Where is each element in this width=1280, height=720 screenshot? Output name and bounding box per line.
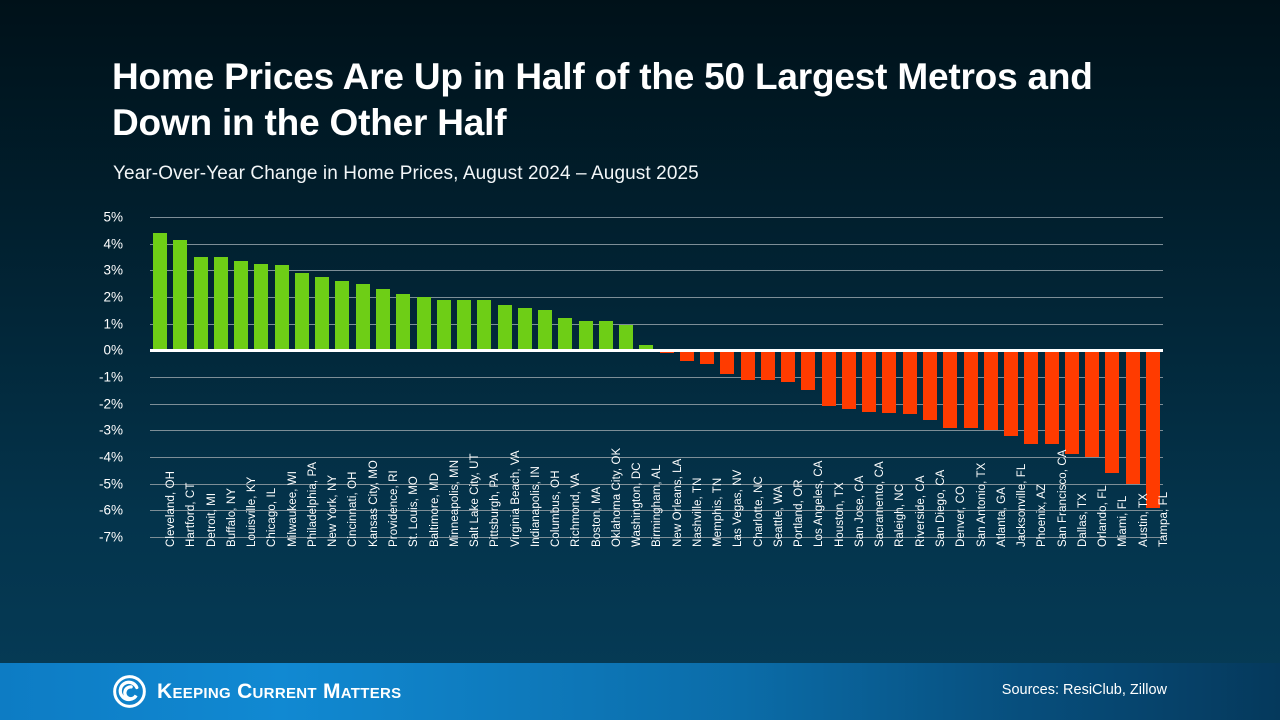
bar[interactable] <box>781 350 795 382</box>
bar[interactable] <box>1024 350 1038 443</box>
y-axis-tick-label: 3% <box>0 263 123 278</box>
sources-label: Sources: ResiClub, Zillow <box>1002 682 1167 698</box>
bar[interactable] <box>437 300 451 351</box>
bar[interactable] <box>275 265 289 350</box>
x-axis-tick-label: Birmingham, AL <box>651 464 663 547</box>
x-axis-tick-label: Indianapolis, IN <box>530 466 542 547</box>
x-axis-tick-label: Kansas City, MO <box>368 460 380 547</box>
x-axis-tick-label: Providence, RI <box>388 470 400 547</box>
y-axis-tick-label: 5% <box>0 210 123 225</box>
x-axis-tick-label: Louisville, KY <box>246 477 258 547</box>
x-axis-tick-label: Atlanta, GA <box>996 487 1008 547</box>
y-axis-tick-label: 4% <box>0 236 123 251</box>
x-axis-tick-label: San Diego, CA <box>935 470 947 547</box>
x-axis-tick-label: Philadelphia, PA <box>307 462 319 547</box>
x-axis-tick-label: Portland, OR <box>793 479 805 547</box>
bar[interactable] <box>984 350 998 430</box>
x-axis-tick-label: Minneapolis, MN <box>449 460 461 547</box>
bar[interactable] <box>498 305 512 350</box>
bar[interactable] <box>335 281 349 350</box>
bar[interactable] <box>923 350 937 419</box>
bar[interactable] <box>396 294 410 350</box>
x-axis-tick-label: Phoenix, AZ <box>1036 484 1048 547</box>
y-axis-tick-label: 2% <box>0 290 123 305</box>
y-axis-tick-label: -5% <box>0 476 123 491</box>
x-axis-tick-label: Baltimore, MD <box>429 473 441 547</box>
x-axis-tick-label: Jacksonville, FL <box>1016 464 1028 547</box>
zero-axis-line <box>150 349 1163 352</box>
bar[interactable] <box>153 233 167 350</box>
x-axis-tick-label: Memphis, TN <box>712 478 724 547</box>
y-axis-tick-label: -1% <box>0 370 123 385</box>
brand-logo: Keeping Current Matters <box>113 675 401 708</box>
bar[interactable] <box>1045 350 1059 443</box>
x-axis-tick-label: Austin, TX <box>1138 493 1150 547</box>
bar[interactable] <box>538 310 552 350</box>
bar[interactable] <box>822 350 836 406</box>
bar[interactable] <box>862 350 876 411</box>
gridline <box>150 457 1163 458</box>
x-axis-tick-label: Pittsburgh, PA <box>489 473 501 547</box>
bar[interactable] <box>1065 350 1079 454</box>
bar[interactable] <box>518 308 532 351</box>
x-axis-tick-label: Raleigh, NC <box>894 484 906 547</box>
x-axis-tick-label: Seattle, WA <box>773 486 785 547</box>
x-axis-tick-label: Columbus, OH <box>550 470 562 547</box>
bar[interactable] <box>376 289 390 350</box>
bar[interactable] <box>801 350 815 390</box>
bar[interactable] <box>1126 350 1140 483</box>
gridline <box>150 217 1163 218</box>
bar[interactable] <box>599 321 613 350</box>
x-axis-tick-label: Cincinnati, OH <box>347 471 359 547</box>
x-axis-tick-label: San Jose, CA <box>854 475 866 547</box>
x-axis-tick-label: St. Louis, MO <box>408 476 420 547</box>
bar[interactable] <box>173 240 187 351</box>
x-axis-tick-label: Miami, FL <box>1117 496 1129 547</box>
x-axis-tick-label: Oklahoma City, OK <box>611 448 623 547</box>
x-axis-tick-label: Detroit, MI <box>206 493 218 547</box>
brand-name: Keeping Current Matters <box>157 680 401 704</box>
gridline <box>150 244 1163 245</box>
x-axis-tick-label: Las Vegas, NV <box>732 470 744 547</box>
x-axis-tick-label: Hartford, CT <box>185 483 197 547</box>
x-axis-tick-label: San Francisco, CA <box>1057 449 1069 547</box>
x-axis-tick-label: Dallas, TX <box>1077 493 1089 547</box>
bar-chart: 5%4%3%2%1%0%-1%-2%-3%-4%-5%-6%-7% Clevel… <box>113 210 1169 555</box>
bar[interactable] <box>1105 350 1119 473</box>
x-axis-tick-label: Houston, TX <box>834 482 846 547</box>
x-axis-tick-label: Chicago, IL <box>266 488 278 547</box>
x-axis-tick-label: Los Angeles, CA <box>813 460 825 547</box>
bar[interactable] <box>315 277 329 350</box>
bar[interactable] <box>943 350 957 427</box>
x-axis-tick-label: San Antonio, TX <box>976 463 988 547</box>
x-axis-tick-label: Nashville, TN <box>692 478 704 547</box>
bar[interactable] <box>619 325 633 350</box>
x-axis-tick-label: Tampa, FL <box>1158 492 1170 547</box>
x-axis-tick-label: Richmond, VA <box>570 473 582 547</box>
x-axis-tick-label: Buffalo, NY <box>226 488 238 547</box>
bar[interactable] <box>741 350 755 379</box>
bar[interactable] <box>903 350 917 414</box>
bar[interactable] <box>194 257 208 350</box>
bar[interactable] <box>1004 350 1018 435</box>
x-axis-tick-label: New Orleans, LA <box>672 459 684 547</box>
y-axis-tick-label: -6% <box>0 503 123 518</box>
y-axis-tick-label: -4% <box>0 450 123 465</box>
x-axis-tick-label: Washington, DC <box>631 462 643 547</box>
gridline <box>150 270 1163 271</box>
bar[interactable] <box>295 273 309 350</box>
y-axis-tick-label: -2% <box>0 396 123 411</box>
bar[interactable] <box>842 350 856 409</box>
bar[interactable] <box>214 257 228 350</box>
x-axis-tick-label: Salt Lake City, UT <box>469 453 481 547</box>
x-axis-tick-label: Milwaukee, WI <box>287 471 299 547</box>
y-axis-tick-label: 0% <box>0 343 123 358</box>
page-subtitle: Year-Over-Year Change in Home Prices, Au… <box>113 163 699 185</box>
bar[interactable] <box>1085 350 1099 457</box>
y-axis-tick-label: -7% <box>0 530 123 545</box>
bar[interactable] <box>356 284 370 351</box>
x-axis-tick-label: New York, NY <box>327 475 339 547</box>
bar[interactable] <box>720 350 734 374</box>
bar[interactable] <box>1146 350 1160 507</box>
bar[interactable] <box>964 350 978 427</box>
bar[interactable] <box>417 297 431 350</box>
bar[interactable] <box>234 261 248 350</box>
bar[interactable] <box>882 350 896 413</box>
x-axis-tick-label: Denver, CO <box>955 486 967 547</box>
x-axis-tick-label: Orlando, FL <box>1097 485 1109 547</box>
x-axis-tick-label: Charlotte, NC <box>753 476 765 547</box>
page-title: Home Prices Are Up in Half of the 50 Lar… <box>112 54 1202 147</box>
spiral-circle-logo-icon <box>113 675 146 708</box>
y-axis-tick-label: 1% <box>0 316 123 331</box>
bar[interactable] <box>558 318 572 350</box>
bar[interactable] <box>761 350 775 379</box>
bar[interactable] <box>254 264 268 351</box>
bar[interactable] <box>579 321 593 350</box>
x-axis-tick-label: Boston, MA <box>591 487 603 547</box>
bar[interactable] <box>477 300 491 351</box>
bar[interactable] <box>457 300 471 351</box>
footer-bar: Keeping Current Matters Sources: ResiClu… <box>0 663 1280 720</box>
x-axis-tick-label: Virginia Beach, VA <box>510 450 522 547</box>
x-axis-tick-label: Sacramento, CA <box>874 461 886 547</box>
x-axis-tick-label: Cleveland, OH <box>165 471 177 547</box>
y-axis-tick-label: -3% <box>0 423 123 438</box>
slide-canvas: Home Prices Are Up in Half of the 50 Lar… <box>0 0 1280 720</box>
x-axis-tick-label: Riverside, CA <box>915 475 927 547</box>
